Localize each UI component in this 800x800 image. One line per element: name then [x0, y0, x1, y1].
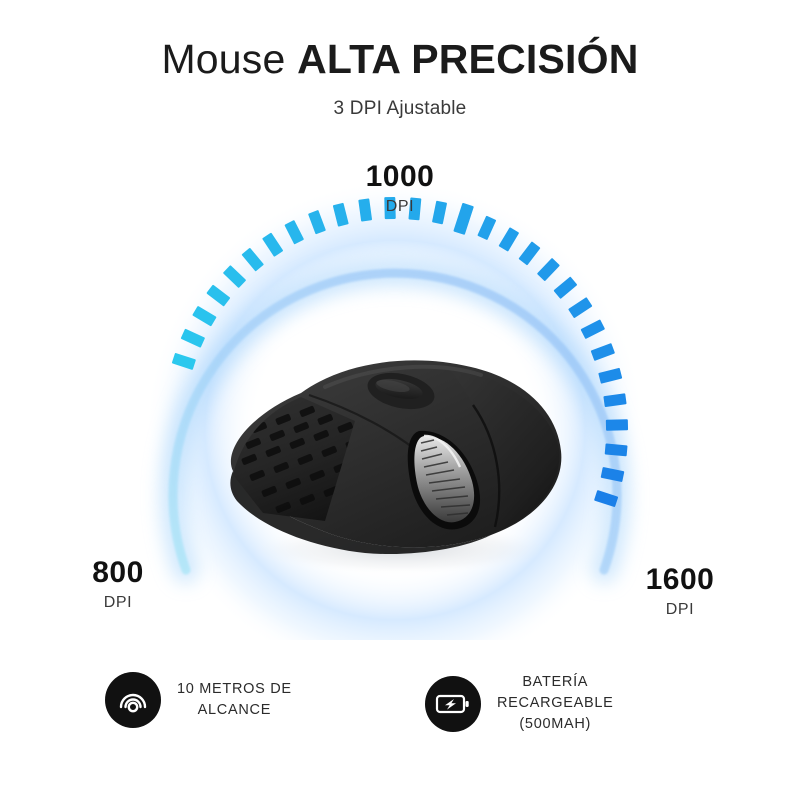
title-light-part: Mouse	[161, 36, 297, 82]
feature-battery-label: BATERÍA RECARGEABLE (500MAH)	[497, 672, 614, 735]
title-bold-part: ALTA PRECISIÓN	[297, 36, 638, 82]
product-image-mouse	[205, 335, 585, 585]
dpi-value-1600: 1600	[646, 563, 715, 596]
mouse-illustration	[205, 335, 585, 585]
gauge-tick	[606, 419, 628, 430]
dpi-unit-1000: DPI	[330, 199, 470, 215]
feature-battery: BATERÍA RECARGEABLE (500MAH)	[405, 672, 725, 735]
dpi-unit-800: DPI	[48, 595, 188, 611]
feature-range-line-2: ALCANCE	[177, 700, 292, 721]
dpi-label-800: 800 DPI	[48, 558, 188, 611]
page-title: Mouse ALTA PRECISIÓN	[0, 34, 800, 84]
feature-range: 10 METROS DE ALCANCE	[75, 672, 405, 728]
wireless-signal-icon	[105, 672, 161, 728]
dpi-value-800: 800	[92, 556, 144, 589]
feature-battery-line-1: BATERÍA	[497, 672, 614, 693]
gauge-tick	[605, 443, 628, 456]
feature-row: 10 METROS DE ALCANCE BATERÍA RECARGEABLE…	[0, 672, 800, 735]
feature-range-label: 10 METROS DE ALCANCE	[177, 679, 292, 721]
battery-charge-icon	[425, 676, 481, 732]
dpi-unit-1600: DPI	[610, 602, 750, 618]
feature-battery-line-3: (500MAH)	[497, 714, 614, 735]
dpi-label-1000: 1000 DPI	[330, 162, 470, 215]
dpi-label-1600: 1600 DPI	[610, 565, 750, 618]
page-subtitle: 3 DPI Ajustable	[0, 98, 800, 120]
dpi-value-1000: 1000	[366, 160, 435, 193]
feature-range-line-1: 10 METROS DE	[177, 679, 292, 700]
header: Mouse ALTA PRECISIÓN 3 DPI Ajustable	[0, 0, 800, 120]
feature-battery-line-2: RECARGEABLE	[497, 693, 614, 714]
dpi-gauge: 1000 DPI 800 DPI 1600 DPI	[0, 140, 800, 640]
